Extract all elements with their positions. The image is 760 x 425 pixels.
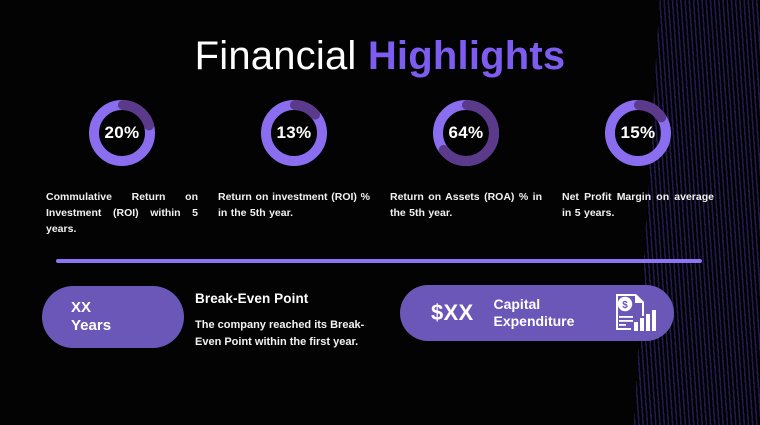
svg-text:$: $ — [622, 300, 628, 311]
kpi-description: Commulative Return on Investment (ROI) w… — [46, 189, 198, 237]
page-title-part2: Highlights — [368, 34, 566, 78]
kpi-row: 20% Commulative Return on Investment (RO… — [46, 96, 714, 237]
capex-label: Capital Expenditure — [493, 296, 574, 330]
years-pill[interactable]: XX Years — [42, 286, 184, 348]
section-divider — [56, 259, 702, 263]
kpi-card: 20% Commulative Return on Investment (RO… — [46, 96, 198, 237]
break-even-block: Break-Even Point The company reached its… — [195, 291, 370, 351]
kpi-card: 15% Net Profit Margin on average in 5 ye… — [562, 96, 714, 221]
donut-chart: 13% — [257, 96, 331, 170]
page-title-part1: Financial — [195, 34, 357, 78]
kpi-description: Return on investment (ROI) % in the 5th … — [218, 189, 370, 221]
kpi-description: Return on Assets (ROA) % in the 5th year… — [390, 189, 542, 221]
break-even-title: Break-Even Point — [195, 291, 370, 306]
document-dollar-barchart-icon: $ — [612, 291, 658, 335]
donut-value: 15% — [601, 96, 675, 170]
capital-expenditure-pill[interactable]: $XX Capital Expenditure $ — [400, 285, 674, 341]
kpi-card: 13% Return on investment (ROI) % in the … — [218, 96, 370, 221]
capex-amount: $XX — [431, 300, 473, 326]
donut-value: 13% — [257, 96, 331, 170]
years-pill-label: XX Years — [71, 299, 111, 335]
donut-chart: 64% — [429, 96, 503, 170]
slide: Financial Highlights 20% Commulative Ret… — [0, 0, 760, 425]
break-even-body: The company reached its Break-Even Point… — [195, 317, 370, 351]
donut-chart: 15% — [601, 96, 675, 170]
page-title: Financial Highlights — [0, 34, 760, 79]
years-pill-line1: XX — [71, 299, 111, 317]
donut-value: 64% — [429, 96, 503, 170]
capex-label-line2: Expenditure — [493, 313, 574, 330]
donut-value: 20% — [85, 96, 159, 170]
donut-chart: 20% — [85, 96, 159, 170]
years-pill-line2: Years — [71, 317, 111, 335]
capex-label-line1: Capital — [493, 296, 574, 313]
kpi-description: Net Profit Margin on average in 5 years. — [562, 189, 714, 221]
kpi-card: 64% Return on Assets (ROA) % in the 5th … — [390, 96, 542, 221]
